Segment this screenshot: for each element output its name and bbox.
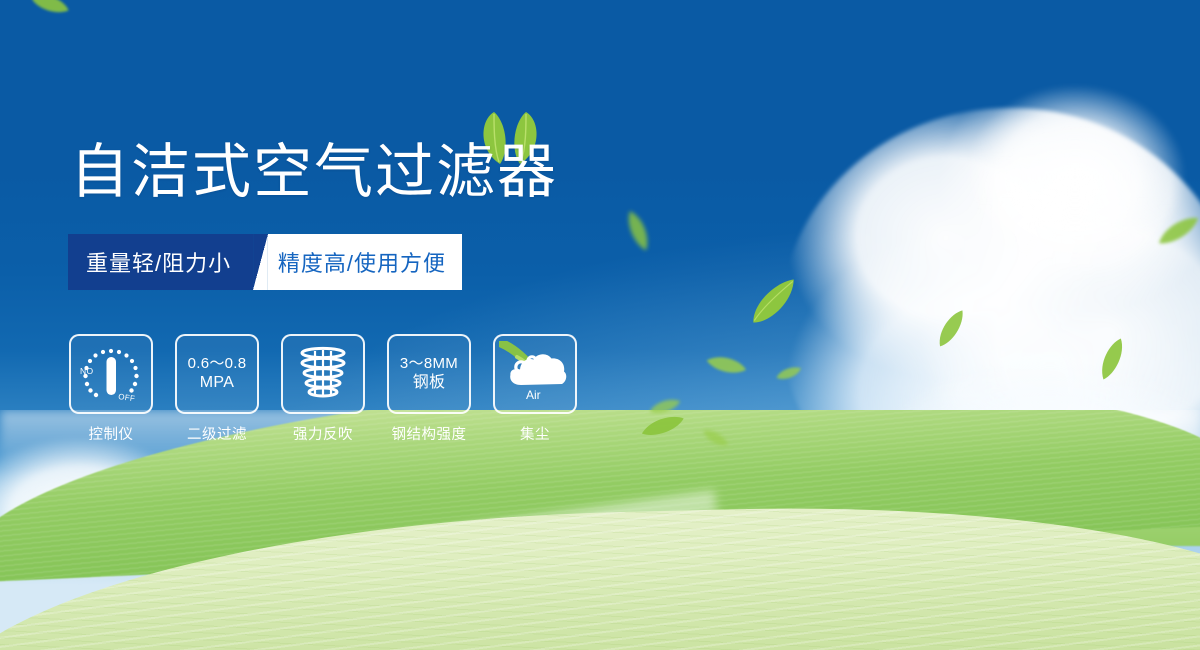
product-banner: 自洁式空气过滤器 重量轻/阻力小 精度高/使用方便 [0,0,1200,650]
page-title: 自洁式空气过滤器 [70,143,558,202]
feature-item-control-meter[interactable]: NO OFF 控制仪 [68,334,154,444]
feature-icon-box [281,334,365,414]
steel-text-icon: 3～8MM 钢板 [400,355,458,394]
grass-field [0,410,1200,650]
subtitle-left-text: 重量轻/阻力小 [68,234,253,290]
coil-spring-icon [293,344,353,404]
dial-off-label: OFF [118,392,136,403]
feature-label: 强力反吹 [280,423,366,444]
dial-on-label: NO [80,366,93,376]
feature-icon-box: NO OFF [69,334,153,414]
feature-line2: MPA [188,373,247,393]
air-label: Air [526,388,541,402]
feature-list: NO OFF 控制仪 0.6～0.8 MPA 二级过滤 [68,334,578,444]
feature-icon-box: 3～8MM 钢板 [387,334,471,414]
dial-gauge-icon: NO OFF [77,343,145,405]
feature-icon-box: Air [493,334,577,414]
feature-label: 二级过滤 [174,423,260,444]
subtitle-right-text: 精度高/使用方便 [268,234,462,290]
feature-item-two-stage-filter[interactable]: 0.6～0.8 MPA 二级过滤 [174,334,260,444]
pressure-text-icon: 0.6～0.8 MPA [188,355,247,394]
feature-item-steel-strength[interactable]: 3～8MM 钢板 钢结构强度 [386,334,472,444]
feature-icon-box: 0.6～0.8 MPA [175,334,259,414]
feature-line1: 3～8MM [400,355,458,374]
feature-line1: 0.6～0.8 [188,355,247,374]
feature-label: 钢结构强度 [386,423,472,444]
feature-item-strong-backblow[interactable]: 强力反吹 [280,334,366,444]
subtitle-bar: 重量轻/阻力小 精度高/使用方便 [68,234,462,290]
subtitle-divider-wedge [253,234,268,290]
cloud-air-icon: Air [499,341,571,407]
feature-label: 集尘 [492,423,578,444]
feature-label: 控制仪 [68,423,154,444]
feature-item-dust-collection[interactable]: Air 集尘 [492,334,578,444]
feature-line2: 钢板 [400,373,458,393]
